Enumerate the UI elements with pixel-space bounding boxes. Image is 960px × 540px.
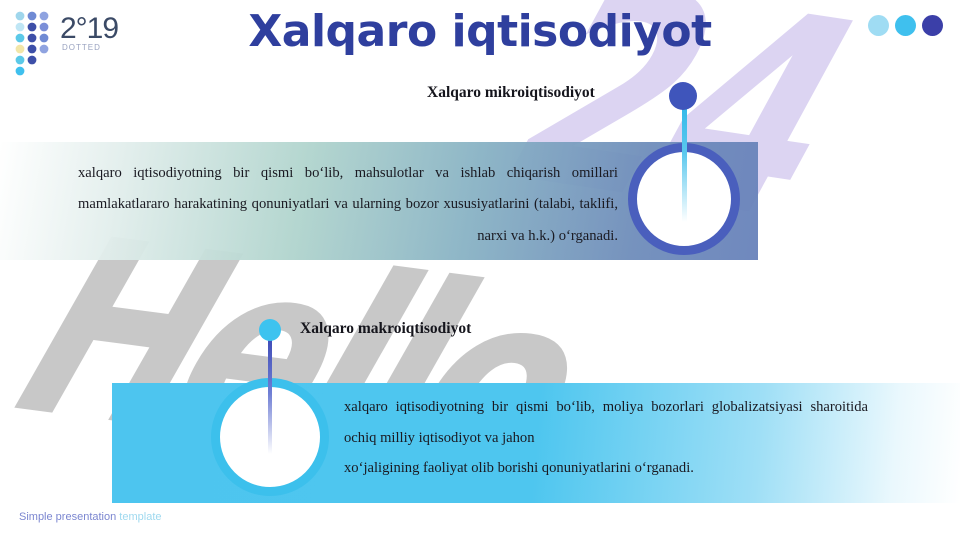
section-makro-body-last: xo‘jaligining faoliyat olib borishi qonu… [344, 453, 868, 484]
dot-dark-icon [922, 15, 943, 36]
page-title: Xalqaro iqtisodiyot [0, 6, 960, 57]
section-makro-body: xalqaro iqtisodiyotning bir qismi bo‘lib… [344, 392, 868, 484]
section-makro-heading: Xalqaro makroiqtisodiyot [300, 320, 471, 338]
footer-text-primary: Simple presentation [19, 511, 116, 523]
section-mikro-pin-line-icon [682, 96, 687, 222]
section-makro-body-main: xalqaro iqtisodiyotning bir qismi bo‘lib… [344, 392, 868, 453]
section-makro-pin-dot-icon [259, 319, 281, 341]
dot-medium-icon [895, 15, 916, 36]
footer-text-secondary: template [119, 511, 161, 523]
section-mikro-pin-dot-icon [669, 82, 697, 110]
section-makro-pin-line-icon [268, 332, 272, 454]
footer-credit: Simple presentation template [19, 511, 162, 523]
decor-dot-group [868, 15, 943, 36]
dot-light-icon [868, 15, 889, 36]
presentation-slide: 24 Hello 2°19 DOTTED Xalqaro iqtisodiyot [0, 0, 960, 540]
section-mikro-heading: Xalqaro mikroiqtisodiyot [427, 84, 595, 102]
section-mikro-body: xalqaro iqtisodiyotning bir qismi bo‘lib… [78, 158, 618, 252]
